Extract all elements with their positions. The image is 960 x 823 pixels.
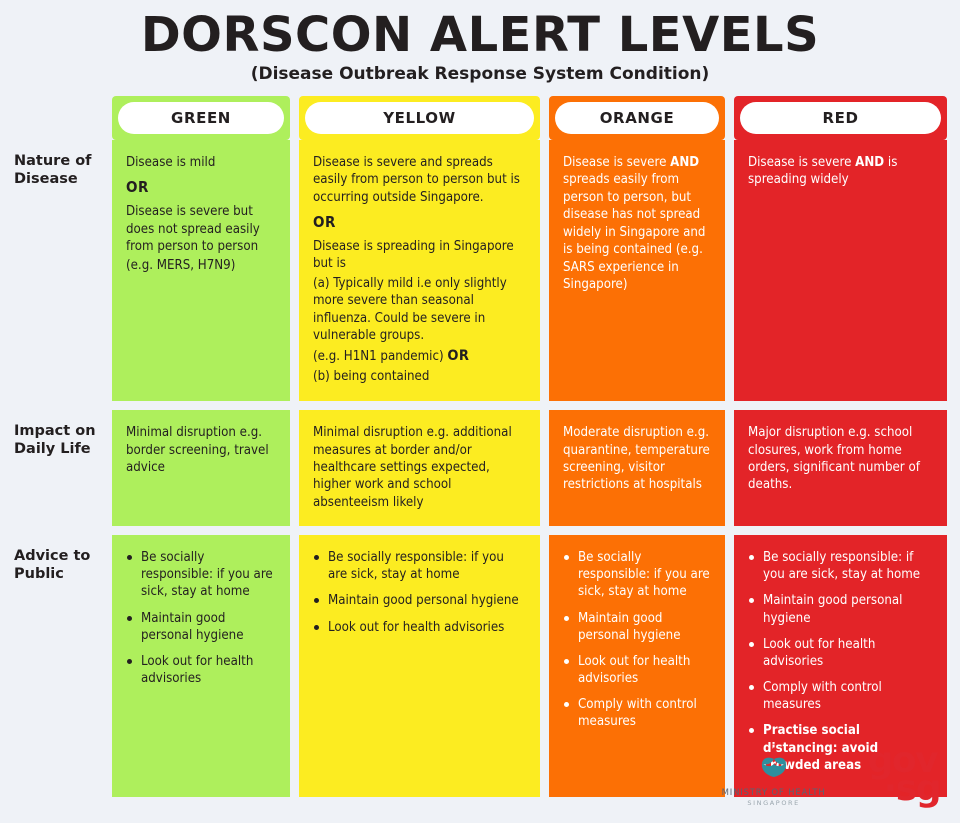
column-header-red[interactable]: RED <box>734 96 947 140</box>
advice-bullet: Comply with control measures <box>563 696 711 730</box>
column-header-yellow-label: YELLOW <box>305 102 534 134</box>
nature-red-text: Disease is severe AND is spreading widel… <box>748 154 933 189</box>
nature-yellow-line5: (b) being contained <box>313 368 526 385</box>
table-row-impact-on-daily-life: Impact on Daily Life Minimal disruption … <box>0 410 960 526</box>
advice-bullet: Look out for health advisories <box>313 619 526 636</box>
cell-impact-red: Major disruption e.g. school closures, w… <box>734 410 947 526</box>
advice-bullet: Be socially responsible: if you are sick… <box>126 549 276 600</box>
nature-yellow-line4: (e.g. H1N1 pandemic) OR <box>313 347 526 366</box>
moh-logo: MINISTRY OF HEALTH SINGAPORE <box>722 744 826 807</box>
header-row-spacer <box>0 96 112 140</box>
cell-nature-red: Disease is severe AND is spreading widel… <box>734 140 947 401</box>
nature-orange-pre: Disease is severe <box>563 155 670 170</box>
page-title: DORSCON ALERT LEVELS <box>0 10 960 60</box>
nature-yellow-line1: Disease is severe and spreads easily fro… <box>313 154 526 206</box>
nature-green-line2: Disease is severe but does not spread ea… <box>126 203 276 255</box>
nature-orange-post: spreads easily from person to person, bu… <box>563 172 705 292</box>
footer: MINISTRY OF HEALTH SINGAPORE gov ·sg <box>0 735 960 815</box>
page-subtitle: (Disease Outbreak Response System Condit… <box>0 64 960 84</box>
nature-green-or: OR <box>126 178 276 198</box>
infographic-page: DORSCON ALERT LEVELS (Disease Outbreak R… <box>0 0 960 823</box>
nature-yellow-or: OR <box>313 213 526 233</box>
advice-bullet: Be socially responsible: if you are sick… <box>313 549 526 583</box>
nature-green-line3: (e.g. MERS, H7N9) <box>126 257 276 274</box>
column-header-green-label: GREEN <box>118 102 284 134</box>
advice-green-list: Be socially responsible: if you are sick… <box>126 549 276 687</box>
advice-bullet: Look out for health advisories <box>748 636 933 670</box>
nature-red-pre: Disease is severe <box>748 155 855 170</box>
cell-impact-yellow: Minimal disruption e.g. additional measu… <box>299 410 540 526</box>
cell-impact-orange: Moderate disruption e.g. quarantine, tem… <box>549 410 725 526</box>
nature-yellow-line4-or: OR <box>447 348 469 364</box>
row-label-impact-on-daily-life: Impact on Daily Life <box>0 410 112 526</box>
advice-bullet: Look out for health advisories <box>563 653 711 687</box>
nature-green-line1: Disease is mild <box>126 154 276 171</box>
column-header-green[interactable]: GREEN <box>112 96 290 140</box>
row-divider-2 <box>0 526 960 535</box>
moh-name: MINISTRY OF HEALTH <box>722 788 826 798</box>
column-header-orange-label: ORANGE <box>555 102 719 134</box>
advice-yellow-list: Be socially responsible: if you are sick… <box>313 549 526 636</box>
nature-yellow-line2: Disease is spreading in Singapore but is <box>313 238 526 273</box>
column-header-yellow[interactable]: YELLOW <box>299 96 540 140</box>
advice-bullet: Maintain good personal hygiene <box>563 610 711 644</box>
advice-bullet: Be socially responsible: if you are sick… <box>748 549 933 583</box>
cell-nature-yellow: Disease is severe and spreads easily fro… <box>299 140 540 401</box>
nature-yellow-line3: (a) Typically mild i.e only slightly mor… <box>313 275 526 345</box>
moh-subname: SINGAPORE <box>722 799 826 807</box>
advice-bullet: Maintain good personal hygiene <box>313 592 526 609</box>
advice-bullet: Maintain good personal hygiene <box>748 592 933 626</box>
title-block: DORSCON ALERT LEVELS (Disease Outbreak R… <box>0 0 960 84</box>
nature-yellow-line4-pre: (e.g. H1N1 pandemic) <box>313 349 447 364</box>
advice-bullet: Look out for health advisories <box>126 653 276 687</box>
nature-orange-text: Disease is severe AND spreads easily fro… <box>563 154 711 293</box>
table-row-nature-of-disease: Nature of Disease Disease is mild OR Dis… <box>0 140 960 401</box>
nature-red-bold: AND <box>855 155 884 170</box>
moh-lotus-icon <box>753 744 795 780</box>
row-divider-1 <box>0 401 960 410</box>
advice-orange-list: Be socially responsible: if you are sick… <box>563 549 711 730</box>
column-header-orange[interactable]: ORANGE <box>549 96 725 140</box>
advice-bullet: Maintain good personal hygiene <box>126 610 276 644</box>
column-header-red-label: RED <box>740 102 941 134</box>
dorscon-table: GREEN YELLOW ORANGE RED Nature of Diseas… <box>0 96 960 797</box>
cell-nature-orange: Disease is severe AND spreads easily fro… <box>549 140 725 401</box>
cell-nature-green: Disease is mild OR Disease is severe but… <box>112 140 290 401</box>
govsg-logo: gov ·sg <box>868 747 940 803</box>
nature-orange-bold: AND <box>670 155 699 170</box>
cell-impact-green: Minimal disruption e.g. border screening… <box>112 410 290 526</box>
row-label-nature-of-disease: Nature of Disease <box>0 140 112 401</box>
table-header-row: GREEN YELLOW ORANGE RED <box>0 96 960 140</box>
advice-bullet: Be socially responsible: if you are sick… <box>563 549 711 600</box>
advice-bullet: Comply with control measures <box>748 679 933 713</box>
